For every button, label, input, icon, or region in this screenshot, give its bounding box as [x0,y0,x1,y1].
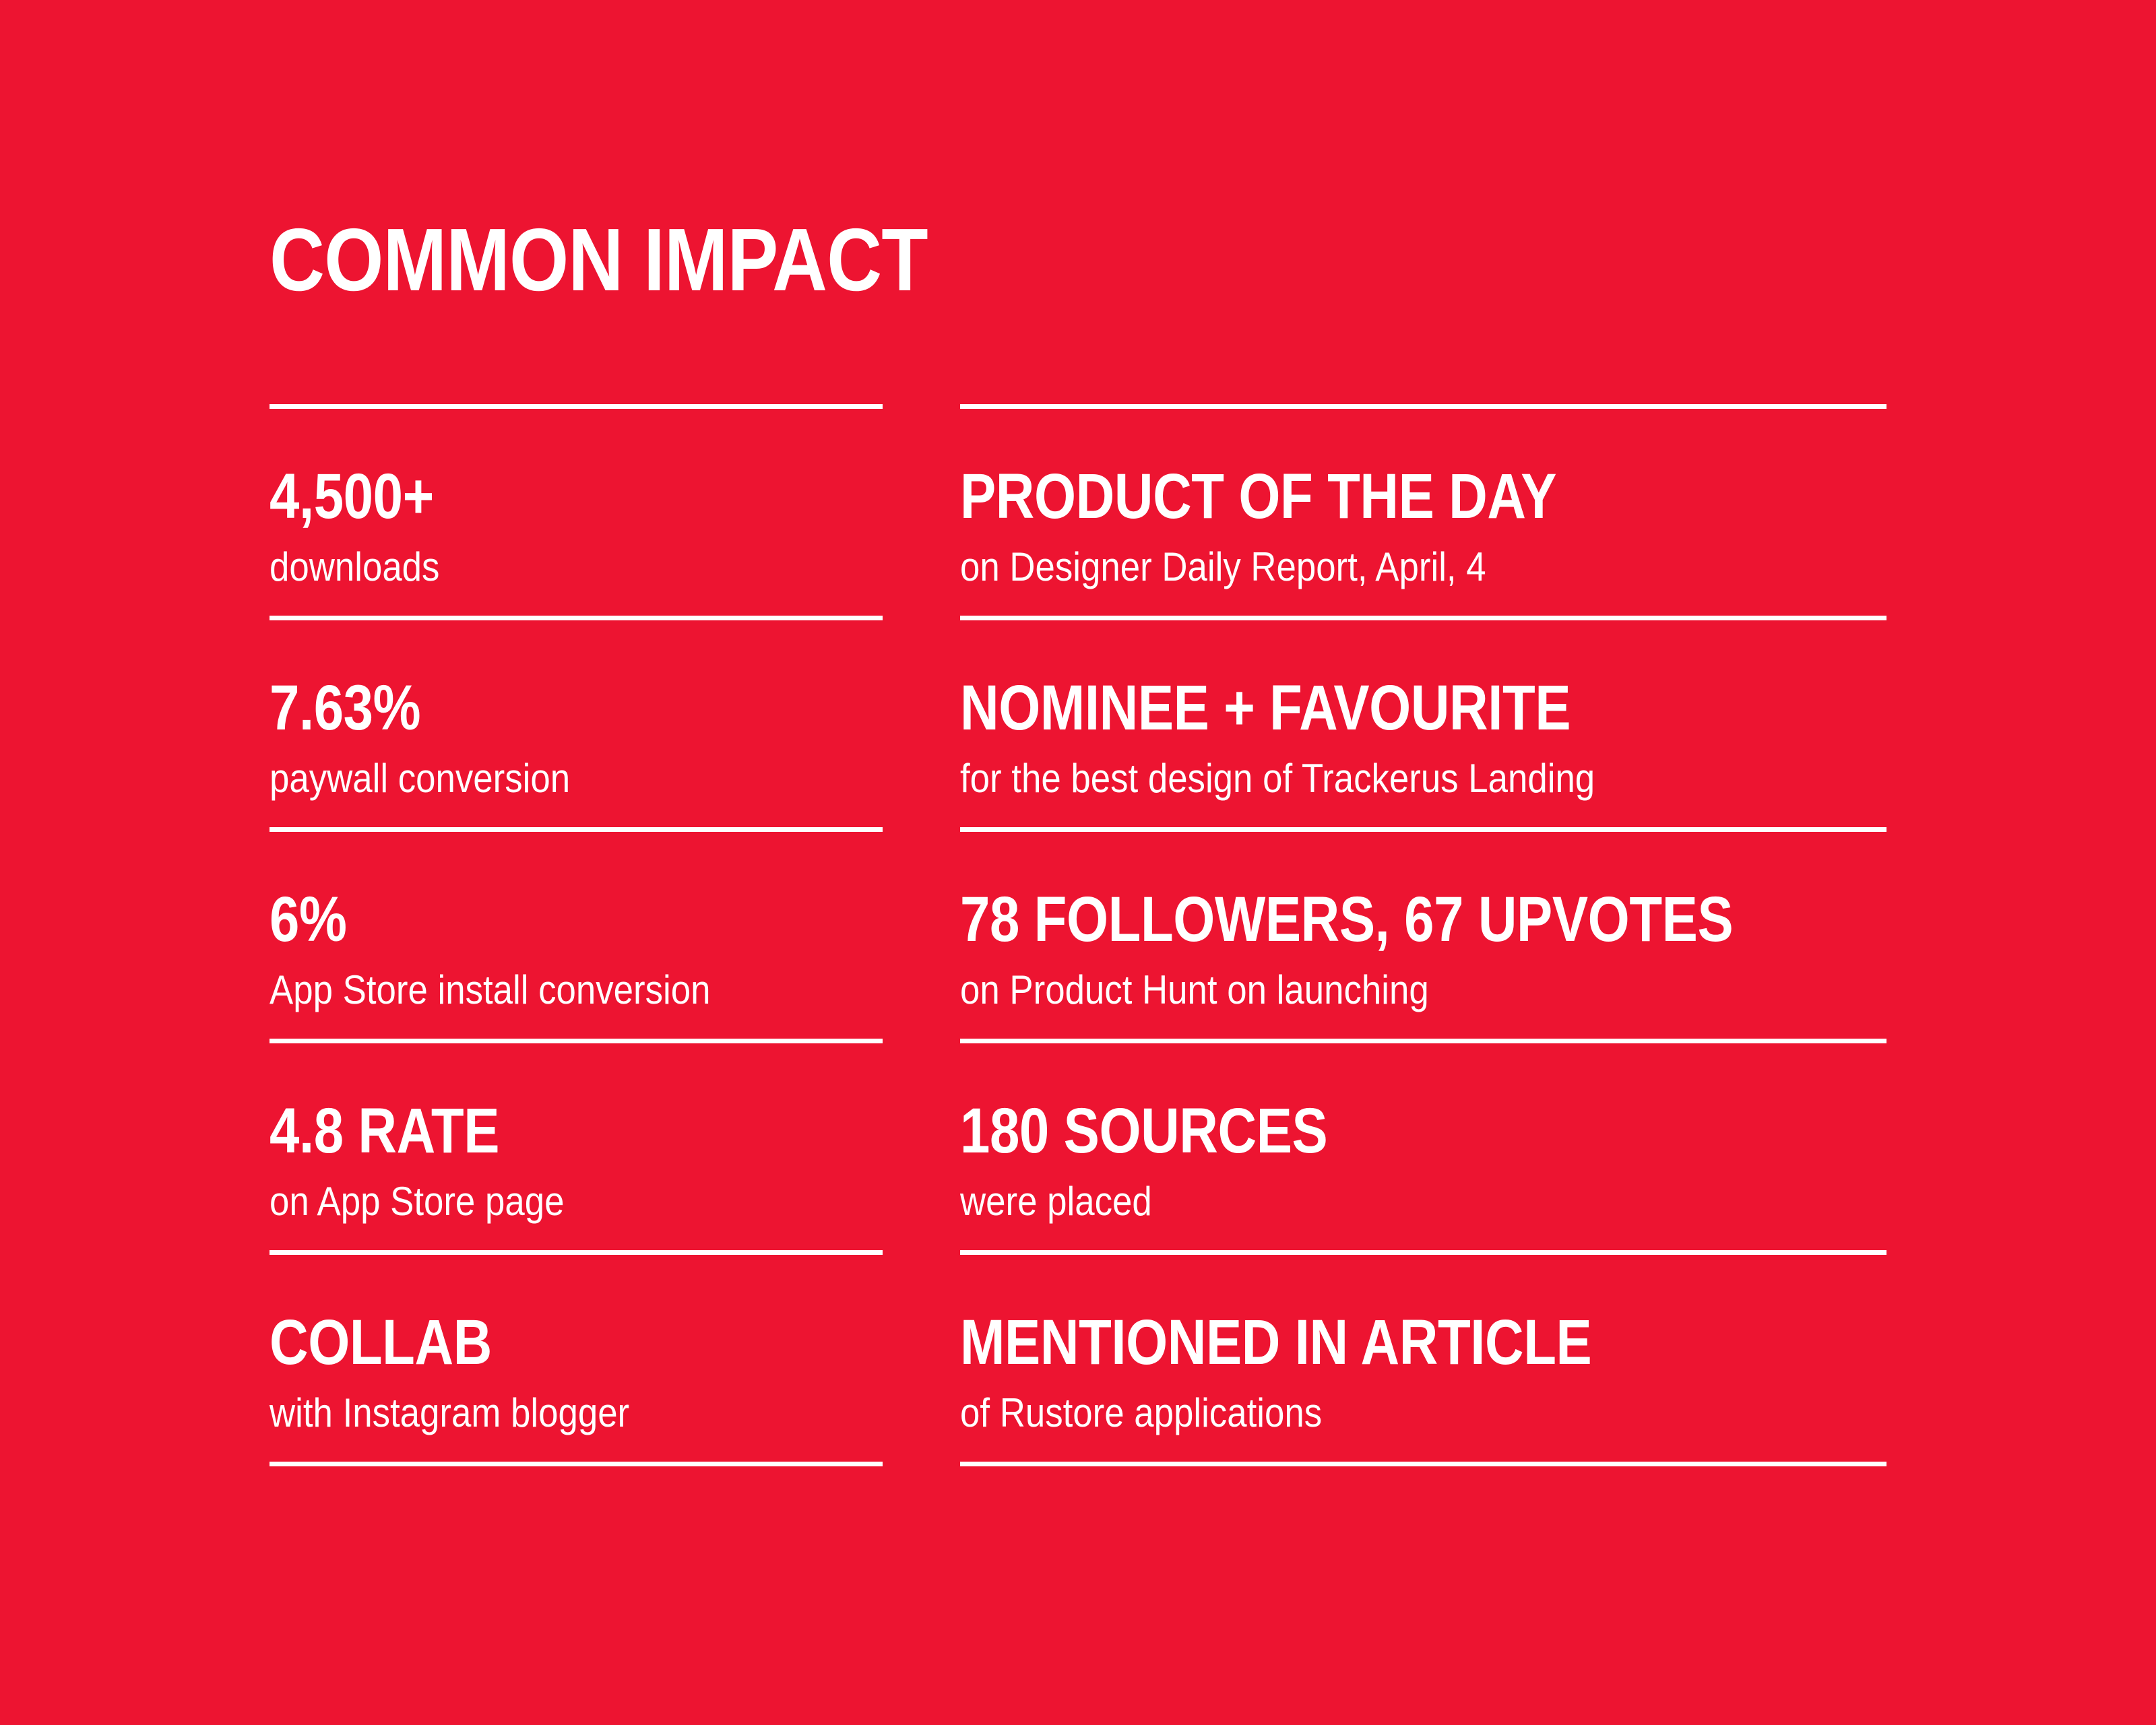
row-divider [960,1250,1886,1255]
stat-label: were placed [960,1181,1152,1222]
column-closing-divider [960,1462,1886,1466]
stat-row: 180 SOURCES were placed [960,1039,1886,1250]
stat-value: COLLAB [269,1311,492,1375]
column-closing-divider [269,1462,883,1466]
row-divider [269,404,883,409]
stat-label: paywall conversion [269,758,570,799]
stats-columns: 4,500+ downloads 7.63% paywall conversio… [269,404,1886,1466]
stats-column-left: 4,500+ downloads 7.63% paywall conversio… [269,404,883,1466]
row-divider [960,827,1886,832]
stat-value: 180 SOURCES [960,1099,1327,1163]
stat-value: NOMINEE + FAVOURITE [960,676,1571,740]
stats-column-right: PRODUCT OF THE DAY on Designer Daily Rep… [960,404,1886,1466]
page-title: COMMON IMPACT [269,216,928,304]
stat-value: 7.63% [269,676,420,740]
stat-row: NOMINEE + FAVOURITE for the best design … [960,616,1886,827]
stat-label: on Product Hunt on launching [960,970,1429,1010]
row-divider [269,1250,883,1255]
stat-label: on App Store page [269,1181,564,1222]
stat-label: of Rustore applications [960,1393,1322,1433]
stat-value: 4.8 RATE [269,1099,499,1163]
stat-value: PRODUCT OF THE DAY [960,465,1556,529]
stat-label: App Store install conversion [269,970,710,1010]
stat-row: 4,500+ downloads [269,404,883,616]
stat-row: 7.63% paywall conversion [269,616,883,827]
stat-label: for the best design of Trackerus Landing [960,758,1595,799]
stat-row: 78 FOLLOWERS, 67 UPVOTES on Product Hunt… [960,827,1886,1039]
slide-root: COMMON IMPACT 4,500+ downloads 7.63% pay… [0,0,2156,1725]
stat-row: MENTIONED IN ARTICLE of Rustore applicat… [960,1250,1886,1462]
row-divider [269,827,883,832]
stat-value: MENTIONED IN ARTICLE [960,1311,1591,1375]
row-divider [960,404,1886,409]
row-divider [269,1039,883,1043]
stat-label: with Instagram blogger [269,1393,629,1433]
row-divider [269,616,883,620]
stat-value: 4,500+ [269,465,434,529]
row-divider [960,616,1886,620]
stat-value: 78 FOLLOWERS, 67 UPVOTES [960,888,1733,952]
stat-label: downloads [269,547,439,587]
stat-row: COLLAB with Instagram blogger [269,1250,883,1462]
stat-row: PRODUCT OF THE DAY on Designer Daily Rep… [960,404,1886,616]
stat-label: on Designer Daily Report, April, 4 [960,547,1486,587]
stat-row: 4.8 RATE on App Store page [269,1039,883,1250]
row-divider [960,1039,1886,1043]
stat-row: 6% App Store install conversion [269,827,883,1039]
stat-value: 6% [269,888,347,952]
